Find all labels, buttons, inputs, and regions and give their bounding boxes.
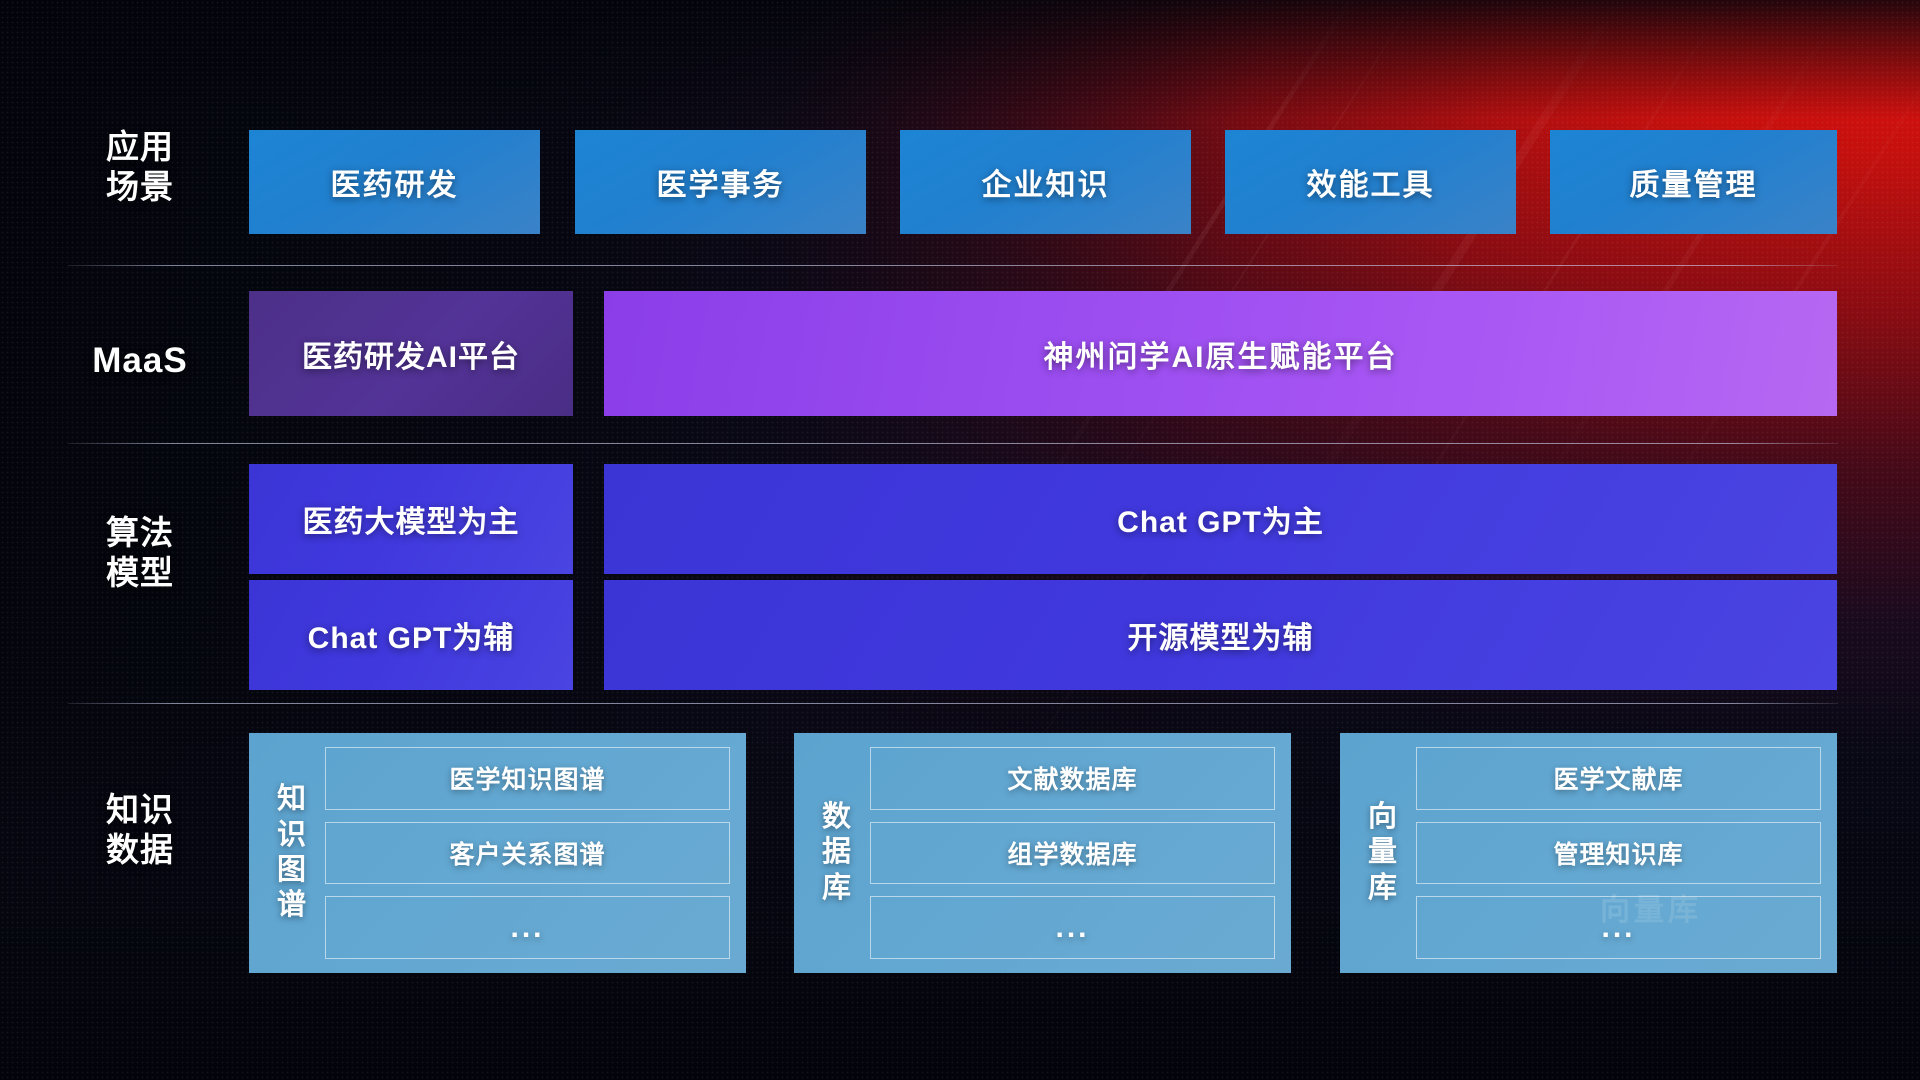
row-label-knowledge-data: 知识 数据 <box>60 790 220 869</box>
algo-box-pharma-llm-primary[interactable]: 医药大模型为主 <box>249 464 573 574</box>
algo-box-opensource-secondary[interactable]: 开源模型为辅 <box>604 580 1837 690</box>
knowledge-item-medical-knowledge-graph[interactable]: 医学知识图谱 <box>325 747 730 810</box>
divider-after-maas <box>68 443 1838 444</box>
algo-box-chatgpt-primary[interactable]: Chat GPT为主 <box>604 464 1837 574</box>
knowledge-group-vector-store[interactable]: 向 量 库 医学文献库 管理知识库 ... 向量库 <box>1340 733 1837 973</box>
app-box-efficiency-tools[interactable]: 效能工具 <box>1225 130 1516 234</box>
knowledge-item-more-database[interactable]: ... <box>870 896 1275 959</box>
knowledge-group-title-knowledge-graph: 知 识 图 谱 <box>259 747 325 959</box>
maas-box-shenzhou-wenxue-platform[interactable]: 神州问学AI原生赋能平台 <box>604 291 1837 416</box>
divider-after-algorithm <box>68 703 1838 704</box>
app-box-quality-management[interactable]: 质量管理 <box>1550 130 1837 234</box>
knowledge-item-customer-relation-graph[interactable]: 客户关系图谱 <box>325 822 730 885</box>
row-label-application-scenarios: 应用 场景 <box>60 127 220 206</box>
knowledge-item-more-knowledge-graph[interactable]: ... <box>325 896 730 959</box>
knowledge-group-database[interactable]: 数 据 库 文献数据库 组学数据库 ... <box>794 733 1291 973</box>
knowledge-group-knowledge-graph[interactable]: 知 识 图 谱 医学知识图谱 客户关系图谱 ... <box>249 733 746 973</box>
knowledge-item-list: 文献数据库 组学数据库 ... <box>870 747 1275 959</box>
knowledge-item-literature-database[interactable]: 文献数据库 <box>870 747 1275 810</box>
watermark-text: 向量库 <box>1600 885 1702 929</box>
divider-after-applications <box>68 265 1838 266</box>
maas-box-pharma-ai-platform[interactable]: 医药研发AI平台 <box>249 291 573 416</box>
knowledge-group-title-vector-store: 向 量 库 <box>1350 747 1416 959</box>
app-box-enterprise-knowledge[interactable]: 企业知识 <box>900 130 1191 234</box>
knowledge-item-list: 医学知识图谱 客户关系图谱 ... <box>325 747 730 959</box>
algo-box-chatgpt-secondary[interactable]: Chat GPT为辅 <box>249 580 573 690</box>
app-box-medical-affairs[interactable]: 医学事务 <box>575 130 866 234</box>
knowledge-item-management-knowledge-store[interactable]: 管理知识库 <box>1416 822 1821 885</box>
architecture-diagram-canvas: 应用 场景 医药研发 医学事务 企业知识 效能工具 质量管理 MaaS 医药研发… <box>0 0 1920 1080</box>
knowledge-group-title-database: 数 据 库 <box>804 747 870 959</box>
knowledge-item-medical-literature-store[interactable]: 医学文献库 <box>1416 747 1821 810</box>
app-box-pharma-rnd[interactable]: 医药研发 <box>249 130 540 234</box>
knowledge-item-omics-database[interactable]: 组学数据库 <box>870 822 1275 885</box>
row-label-algorithm-model: 算法 模型 <box>60 513 220 592</box>
row-label-maas: MaaS <box>60 340 220 382</box>
